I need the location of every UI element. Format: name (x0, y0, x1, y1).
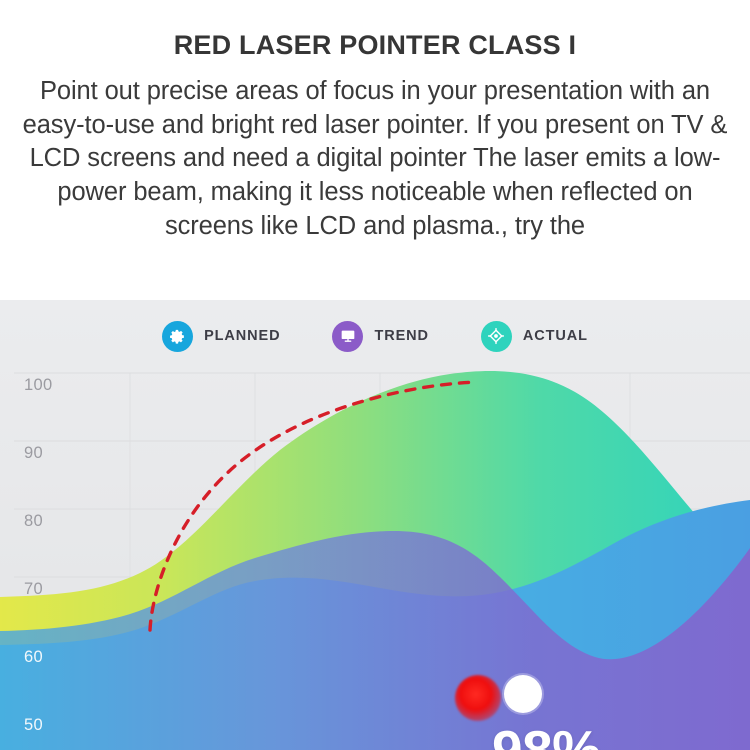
legend-label-planned: PLANNED (204, 328, 280, 344)
chart-legend: PLANNED TREND (0, 316, 750, 356)
laser-dot-98[interactable] (455, 675, 501, 721)
page-title: RED LASER POINTER CLASS I (16, 30, 734, 61)
legend-item-trend[interactable]: TREND (332, 321, 428, 352)
product-listing-page: RED LASER POINTER CLASS I Point out prec… (0, 0, 750, 750)
product-text-block: RED LASER POINTER CLASS I Point out prec… (0, 0, 750, 300)
value-label-98: 98% (492, 718, 601, 750)
performance-area-chart: PLANNED TREND (0, 300, 750, 750)
gear-icon (162, 321, 193, 352)
legend-label-trend: TREND (374, 328, 428, 344)
legend-label-actual: ACTUAL (523, 328, 588, 344)
product-description: Point out precise areas of focus in your… (16, 75, 734, 243)
data-point-marker-98[interactable] (504, 675, 542, 713)
chart-canvas (0, 300, 750, 750)
target-icon (481, 321, 512, 352)
legend-item-planned[interactable]: PLANNED (162, 321, 280, 352)
legend-item-actual[interactable]: ACTUAL (481, 321, 588, 352)
monitor-icon (332, 321, 363, 352)
